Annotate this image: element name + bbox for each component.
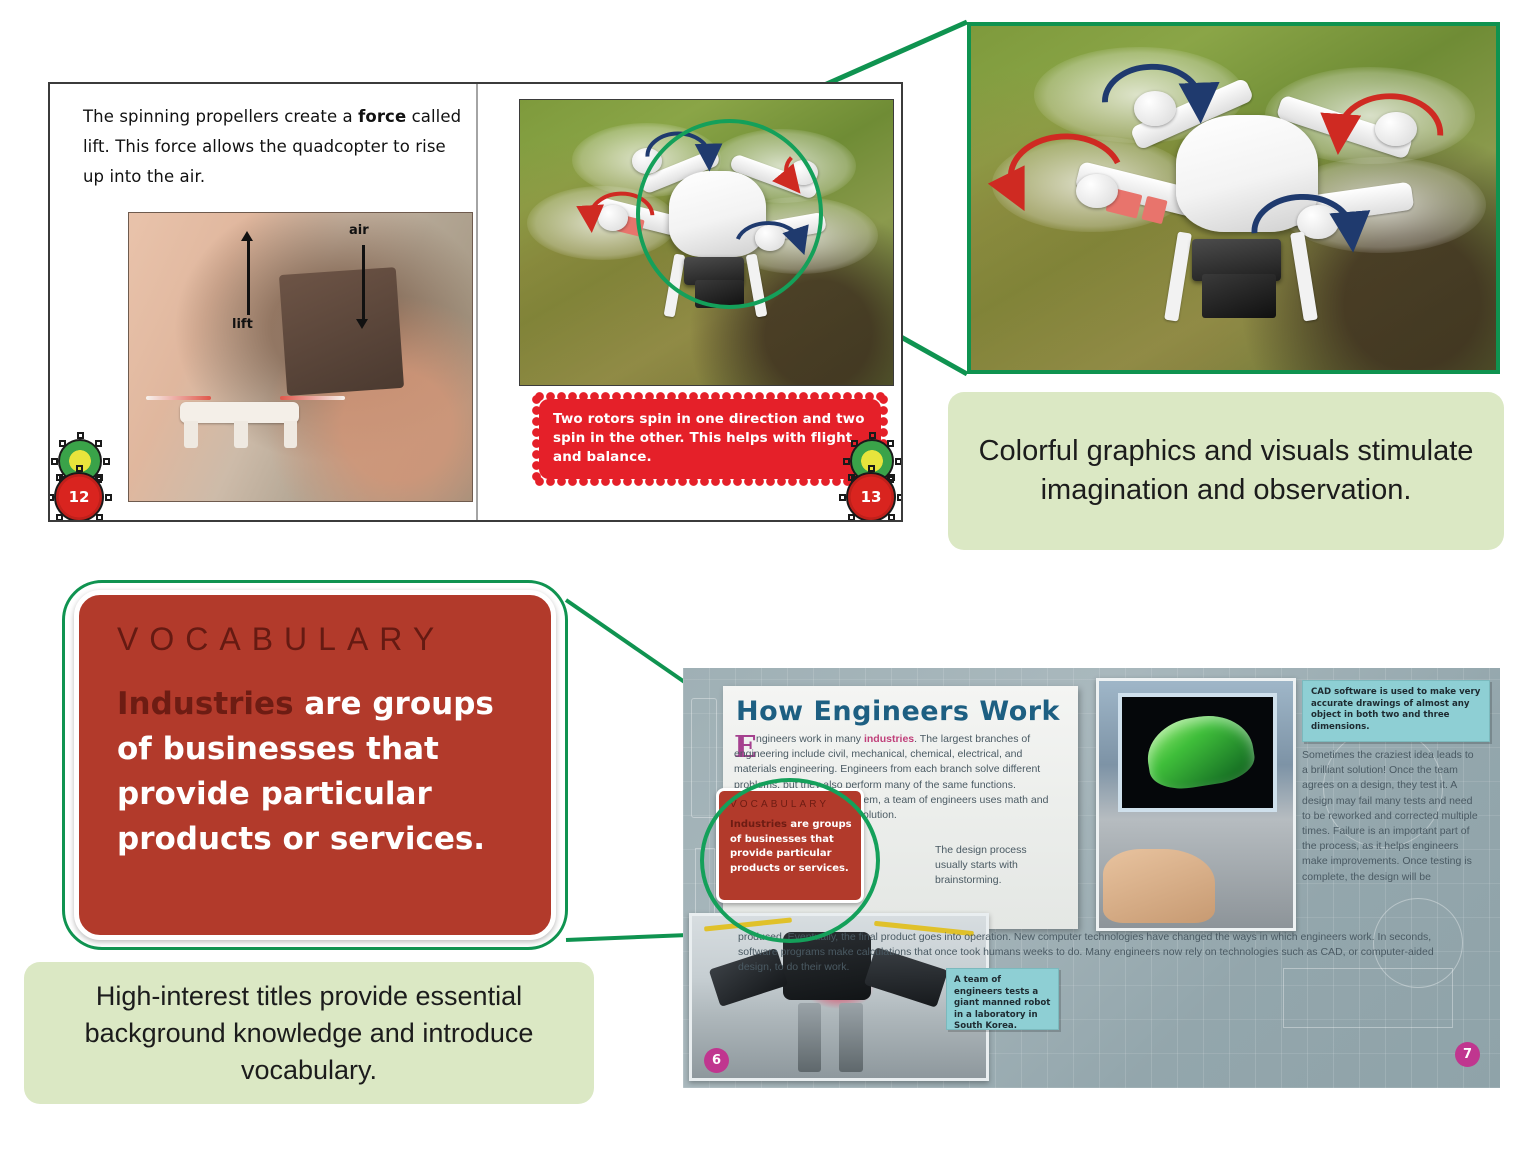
arrow-front-right-blue bbox=[1254, 197, 1351, 233]
keyword-industries: industries bbox=[864, 733, 914, 745]
lift-arrow-head bbox=[241, 231, 253, 241]
arrow-rear-right-red bbox=[1340, 96, 1441, 135]
cad-model-green bbox=[1142, 709, 1257, 793]
page-title-how-engineers-work: How Engineers Work bbox=[736, 696, 1060, 727]
hands-on-keyboard bbox=[1103, 849, 1216, 923]
rotation-arrows bbox=[520, 100, 893, 385]
robot-leg-left bbox=[798, 1003, 822, 1071]
vocabulary-highlight-ring bbox=[700, 778, 880, 943]
robot-leg-right bbox=[839, 1003, 863, 1071]
page-gutter bbox=[476, 84, 478, 520]
page-number-6: 6 bbox=[704, 1048, 729, 1073]
body-column-2: The design process usually starts with b… bbox=[935, 843, 1040, 889]
blueprint-deco bbox=[1283, 968, 1453, 1028]
photo-quadcopter-rotation bbox=[519, 99, 894, 386]
body-text-1a: ngineers work in many bbox=[756, 733, 864, 745]
caption-robot-korea: A team of engineers tests a giant manned… bbox=[946, 968, 1059, 1030]
intro-text-part1: The spinning propellers create a bbox=[83, 107, 358, 126]
red-caption-text: Two rotors spin in one direction and two… bbox=[553, 411, 865, 465]
arrow-front-left-red bbox=[1011, 136, 1118, 190]
page-badge-left[interactable]: 12 bbox=[54, 472, 104, 522]
callout-graphics-text: Colorful graphics and visuals stimulate … bbox=[948, 432, 1504, 510]
page-number-right: 13 bbox=[846, 472, 896, 522]
mini-drone-leg bbox=[184, 421, 197, 448]
air-arrow-head bbox=[356, 319, 368, 329]
page-number-left: 12 bbox=[54, 472, 104, 522]
callout-colorful-graphics: Colorful graphics and visuals stimulate … bbox=[948, 392, 1504, 550]
enlarged-quadcopter-panel bbox=[967, 22, 1500, 374]
air-label: air bbox=[349, 223, 369, 238]
callout-titles-text: High-interest titles provide essential b… bbox=[24, 978, 594, 1089]
mini-quadcopter bbox=[150, 374, 342, 455]
vocabulary-term: Industries bbox=[117, 686, 294, 722]
blueprint-deco bbox=[691, 698, 717, 818]
arrow-front-right-blue bbox=[738, 223, 800, 240]
book-spread-pages-12-13: The spinning propellers create a force c… bbox=[48, 82, 903, 522]
photo-child-with-controller: lift air bbox=[128, 212, 473, 502]
callout-high-interest-titles: High-interest titles provide essential b… bbox=[24, 962, 594, 1104]
arrow-rear-left-blue bbox=[647, 134, 709, 157]
intro-bold-force: force bbox=[358, 107, 406, 126]
lift-paragraph: The spinning propellers create a force c… bbox=[83, 102, 468, 192]
mini-rotor-left bbox=[146, 396, 211, 400]
promotional-page: The spinning propellers create a force c… bbox=[0, 0, 1538, 1158]
air-arrow-shaft bbox=[362, 245, 365, 321]
page-number-7: 7 bbox=[1455, 1042, 1480, 1067]
body-bottom-paragraph: produced. Eventually, the final product … bbox=[738, 930, 1458, 976]
arrow-rear-right-red bbox=[786, 158, 791, 182]
vocabulary-heading: VOCABULARY bbox=[117, 621, 521, 658]
arrow-rear-left-blue bbox=[1105, 67, 1200, 102]
mini-drone-leg bbox=[234, 421, 247, 448]
vocabulary-card-enlarged: VOCABULARY Industries are groups of busi… bbox=[74, 590, 556, 940]
vocabulary-definition: Industries are groups of businesses that… bbox=[117, 682, 521, 862]
monitor-screen bbox=[1118, 693, 1277, 812]
page-badge-right[interactable]: 13 bbox=[846, 472, 896, 522]
lift-label: lift bbox=[232, 317, 253, 332]
mini-drone-leg bbox=[284, 421, 297, 448]
mini-rotor-right bbox=[280, 396, 345, 400]
photo-cad-monitor bbox=[1096, 678, 1296, 931]
rotation-arrows-large bbox=[971, 26, 1496, 370]
mini-drone-body bbox=[180, 402, 299, 423]
body-column-right: Sometimes the craziest idea leads to a b… bbox=[1302, 748, 1480, 885]
lift-arrow-shaft bbox=[247, 241, 250, 315]
red-caption-box: Two rotors spin in one direction and two… bbox=[539, 399, 881, 479]
arrow-front-left-red bbox=[591, 194, 653, 218]
caption-cad-software: CAD software is used to make very accura… bbox=[1302, 680, 1490, 742]
